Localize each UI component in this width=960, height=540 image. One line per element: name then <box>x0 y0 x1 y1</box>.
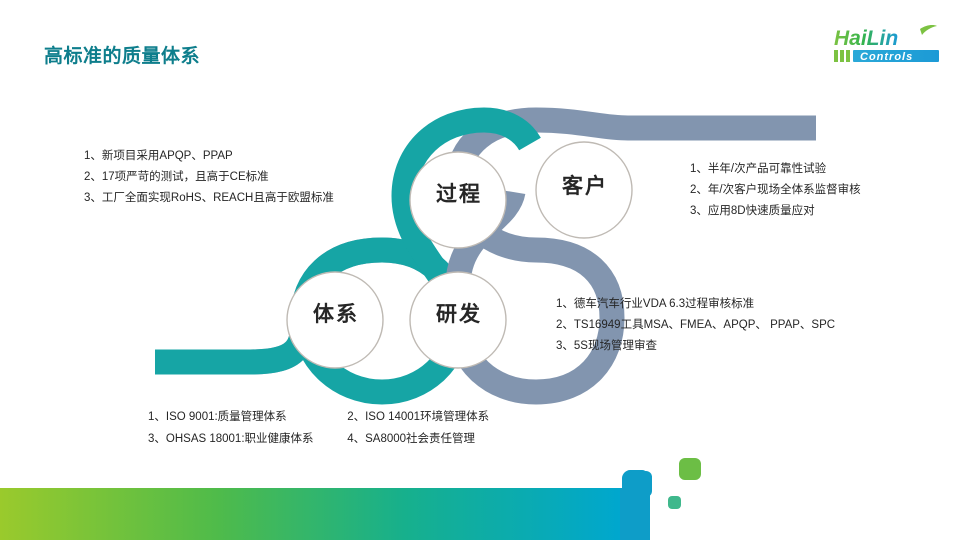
logo-leaf-icon <box>920 25 937 35</box>
logo-wordmark: HaiLin <box>834 27 898 50</box>
node-label-yanfa[interactable]: 研发 <box>413 298 503 328</box>
text-block-top-right: 1、半年/次产品可靠性试验 2、年/次客户现场全体系监督审核 3、应用8D快速质… <box>690 159 861 222</box>
logo-subwordmark: Controls <box>860 51 913 63</box>
text-block-top-left: 1、新项目采用APQP、PPAP 2、17项严苛的测试，且高于CE标准 3、工厂… <box>84 146 334 209</box>
page-title: 高标准的质量体系 <box>44 41 200 68</box>
list-item: 1、ISO 9001:质量管理体系 <box>148 406 344 428</box>
footer-gradient-bar <box>0 488 620 540</box>
list-item: 2、年/次客户现场全体系监督审核 <box>690 180 861 201</box>
list-item: 1、德车汽车行业VDA 6.3过程审核标准 <box>556 294 835 315</box>
list-item: 3、5S现场管理审查 <box>556 336 835 357</box>
footer-square-green-small <box>668 496 681 509</box>
list-item: 1、新项目采用APQP、PPAP <box>84 146 334 167</box>
footer-square-green-large <box>679 458 701 480</box>
ribbon-path-teal-upper <box>404 120 530 320</box>
logo-bar-1 <box>834 50 838 62</box>
brand-logo: HaiLin Controls <box>826 22 948 68</box>
node-label-kehu[interactable]: 客户 <box>539 170 629 200</box>
footer-decoration <box>0 440 960 540</box>
logo-bar-3 <box>846 50 850 62</box>
footer-square-blue <box>628 471 652 497</box>
list-row: 1、ISO 9001:质量管理体系 2、ISO 14001环境管理体系 <box>148 406 489 428</box>
logo-bar-2 <box>840 50 844 62</box>
text-block-mid-right: 1、德车汽车行业VDA 6.3过程审核标准 2、TS16949工具MSA、FME… <box>556 294 835 357</box>
list-item: 1、半年/次产品可靠性试验 <box>690 159 861 180</box>
list-item: 2、ISO 14001环境管理体系 <box>347 406 489 428</box>
node-label-guocheng[interactable]: 过程 <box>413 178 503 208</box>
slide-root: 高标准的质量体系 HaiLin Controls <box>0 0 960 540</box>
list-item: 2、17项严苛的测试，且高于CE标准 <box>84 167 334 188</box>
list-item: 3、应用8D快速质量应对 <box>690 201 861 222</box>
node-label-tixi[interactable]: 体系 <box>290 298 380 328</box>
list-item: 2、TS16949工具MSA、FMEA、APQP、 PPAP、SPC <box>556 315 835 336</box>
list-item: 3、工厂全面实现RoHS、REACH且高于欧盟标准 <box>84 188 334 209</box>
